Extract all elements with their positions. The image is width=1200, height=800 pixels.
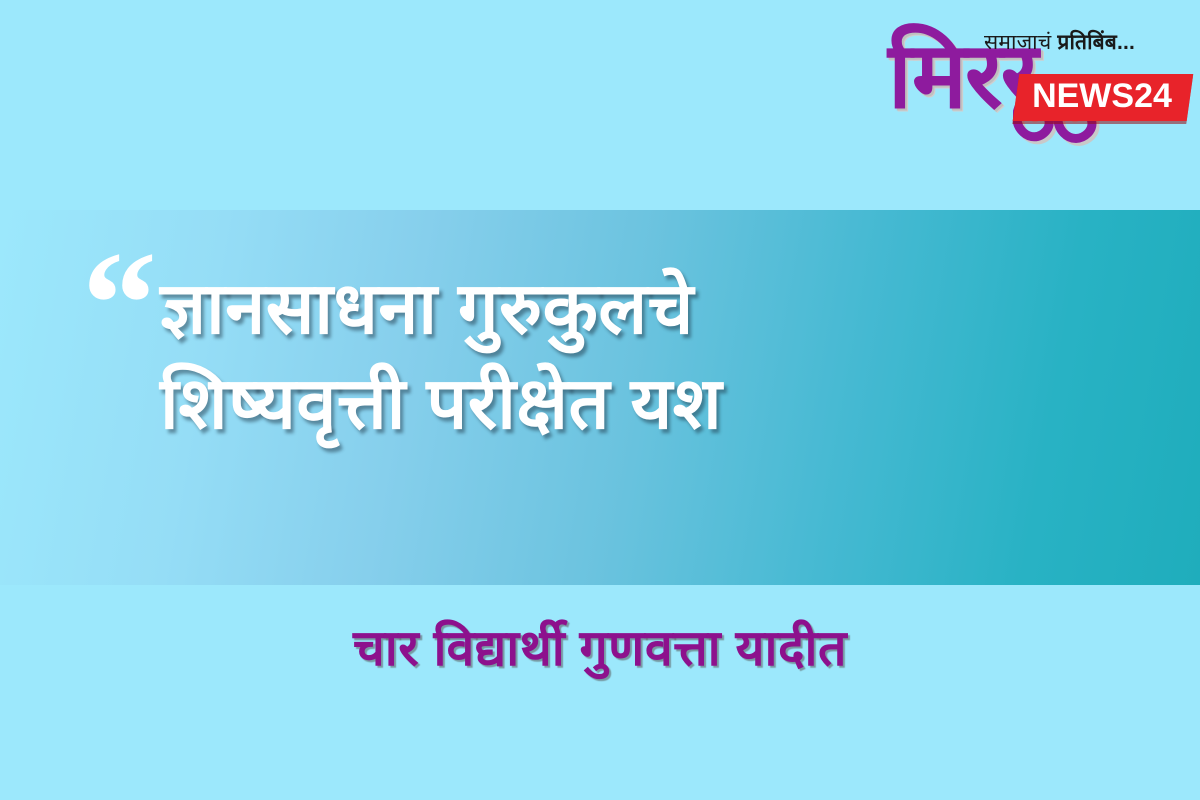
brand-logo[interactable]: मिरर समाजाचं प्रतिबिंब... NEWS24: [888, 22, 1178, 157]
headline-text: ज्ञानसाधना गुरुकुलचे शिष्यवृत्ती परीक्षे…: [160, 262, 1170, 452]
tagline-bold-part: प्रतिबिंब...: [1057, 31, 1135, 54]
headline-line-1: ज्ञानसाधना गुरुकुलचे: [160, 262, 1170, 357]
headline-band: “ ज्ञानसाधना गुरुकुलचे शिष्यवृत्ती परीक्…: [0, 210, 1200, 585]
headline-line-2: शिष्यवृत्ती परीक्षेत यश: [160, 357, 1170, 452]
news24-badge[interactable]: NEWS24: [1013, 74, 1193, 121]
tagline-light-part: समाजाचं: [984, 31, 1057, 54]
quote-mark-icon: “: [82, 250, 153, 358]
news24-badge-label: NEWS24: [1032, 79, 1172, 115]
news-graphic-card: मिरर समाजाचं प्रतिबिंब... NEWS24 “ ज्ञान…: [0, 0, 1200, 800]
subheadline-text: चार विद्यार्थी गुणवत्ता यादीत: [0, 612, 1200, 680]
brand-tagline: समाजाचं प्रतिबिंब...: [984, 28, 1135, 56]
